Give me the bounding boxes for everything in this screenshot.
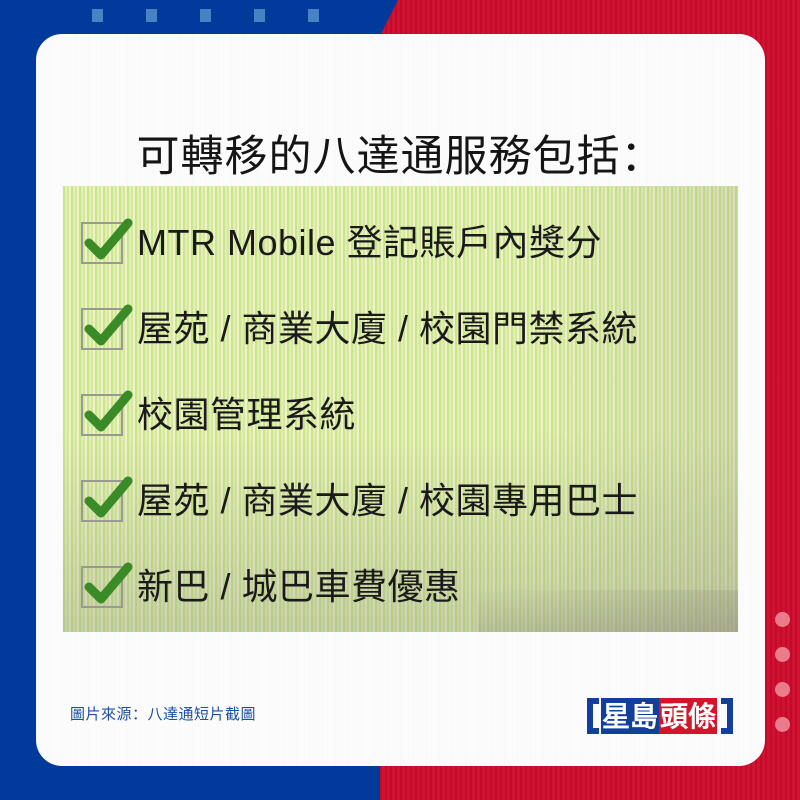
list-item-label: 新巴 / 城巴車費優惠 bbox=[137, 566, 461, 607]
check-box-icon bbox=[81, 566, 123, 608]
top-dot-5 bbox=[308, 9, 319, 22]
top-dot-4 bbox=[254, 9, 265, 22]
list-item: 屋苑 / 商業大廈 / 校園專用巴士 bbox=[81, 458, 732, 544]
image-source-caption: 圖片來源：八達通短片截圖 bbox=[70, 703, 256, 724]
list-item-label: 屋苑 / 商業大廈 / 校園專用巴士 bbox=[137, 480, 638, 521]
poster-canvas: 可轉移的八達通服務包括： MTR Mobile 登記賬戶內獎分 bbox=[0, 0, 800, 800]
list-item-label: 屋苑 / 商業大廈 / 校園門禁系統 bbox=[137, 308, 638, 349]
top-dot-decoration bbox=[92, 9, 319, 22]
content-card: 可轉移的八達通服務包括： MTR Mobile 登記賬戶內獎分 bbox=[36, 34, 765, 766]
check-box-icon bbox=[81, 308, 123, 350]
list-item-label: 校園管理系統 bbox=[137, 394, 356, 435]
page-title: 可轉移的八達通服務包括： bbox=[36, 134, 765, 181]
list-item: 新巴 / 城巴車費優惠 bbox=[81, 544, 732, 630]
service-list-panel: MTR Mobile 登記賬戶內獎分 屋苑 / 商業大廈 / 校園門禁系統 bbox=[63, 186, 738, 632]
right-dot-1 bbox=[775, 612, 790, 627]
list-item: 校園管理系統 bbox=[81, 372, 732, 458]
list-item: MTR Mobile 登記賬戶內獎分 bbox=[81, 200, 732, 286]
check-box-icon bbox=[81, 394, 123, 436]
check-box-icon bbox=[81, 222, 123, 264]
list-item-label: MTR Mobile 登記賬戶內獎分 bbox=[137, 222, 602, 263]
top-dot-1 bbox=[92, 9, 103, 22]
right-dot-decoration bbox=[775, 612, 790, 732]
right-dot-3 bbox=[775, 682, 790, 697]
sing-tao-headline-logo: 星島 頭條 bbox=[585, 696, 735, 736]
check-box-icon bbox=[81, 480, 123, 522]
svg-text:頭條: 頭條 bbox=[660, 701, 716, 732]
right-dot-2 bbox=[775, 647, 790, 662]
svg-text:星島: 星島 bbox=[602, 701, 658, 732]
top-dot-3 bbox=[200, 9, 211, 22]
right-dot-4 bbox=[775, 717, 790, 732]
service-list: MTR Mobile 登記賬戶內獎分 屋苑 / 商業大廈 / 校園門禁系統 bbox=[81, 200, 732, 630]
top-dot-2 bbox=[146, 9, 157, 22]
list-item: 屋苑 / 商業大廈 / 校園門禁系統 bbox=[81, 286, 732, 372]
